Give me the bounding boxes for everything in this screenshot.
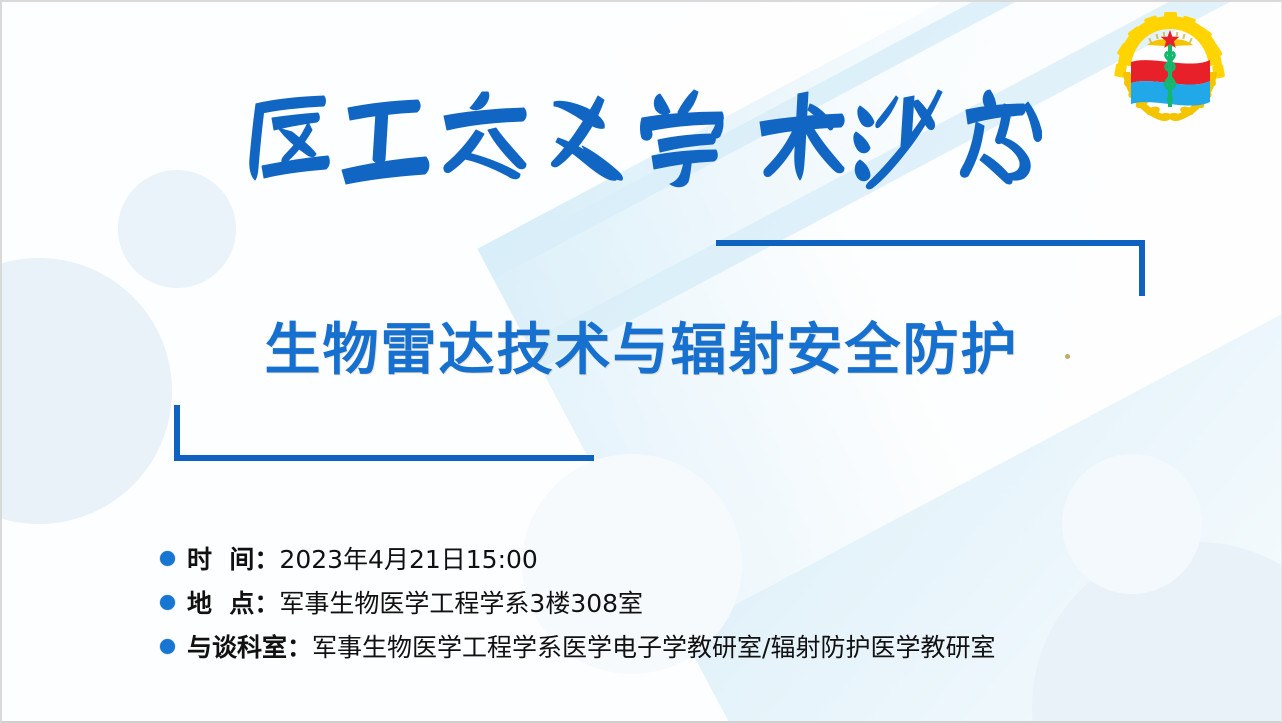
bullet-icon xyxy=(160,551,175,566)
detail-label-time: 时 间： xyxy=(187,540,279,576)
seminar-poster: 医工交叉学术沙龙 xyxy=(0,0,1282,723)
bracket-top-vertical xyxy=(1139,240,1145,296)
detail-row-time: 时 间： 2023年4月21日15:00 xyxy=(160,536,1220,580)
detail-label-location: 地 点： xyxy=(187,584,279,620)
bracket-bottom-vertical xyxy=(174,405,180,461)
detail-row-location: 地 点： 军事生物医学工程学系3楼308室 xyxy=(160,580,1220,624)
bracket-top-horizontal xyxy=(716,240,1145,246)
detail-value-department: 军事生物医学工程学系医学电子学教研室/辐射防护医学教研室 xyxy=(312,628,995,664)
detail-value-time: 2023年4月21日15:00 xyxy=(279,540,537,576)
bullet-icon xyxy=(160,595,175,610)
bracket-bottom-horizontal xyxy=(174,455,594,461)
event-details-list: 时 间： 2023年4月21日15:00 地 点： 军事生物医学工程学系3楼30… xyxy=(160,536,1220,668)
decorative-circle-2 xyxy=(2,258,172,524)
poster-main-title: 生物雷达技术与辐射安全防护 xyxy=(2,305,1281,386)
calligraphy-headline: 医工交叉学术沙龙 xyxy=(2,84,1281,194)
bullet-icon xyxy=(160,639,175,654)
title-decorative-dot xyxy=(1065,354,1070,359)
detail-value-location: 军事生物医学工程学系3楼308室 xyxy=(279,584,643,620)
detail-label-department: 与谈科室： xyxy=(187,628,312,664)
detail-row-department: 与谈科室： 军事生物医学工程学系医学电子学教研室/辐射防护医学教研室 xyxy=(160,624,1220,668)
